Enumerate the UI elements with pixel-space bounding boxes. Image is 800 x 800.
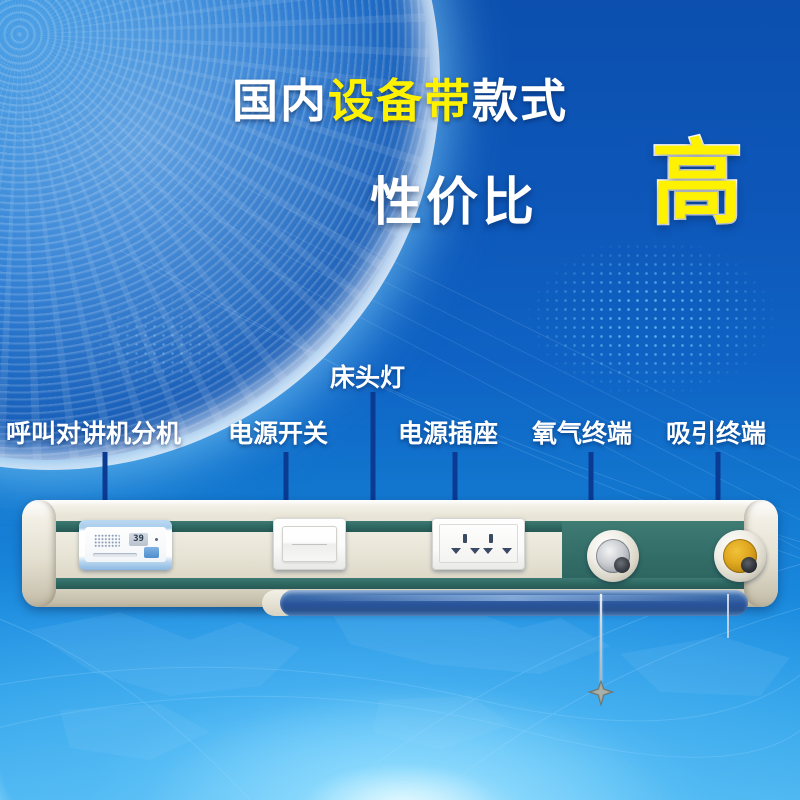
oxygen-ring — [596, 539, 630, 573]
speaker-grille-icon — [94, 534, 120, 548]
rocker-seam — [292, 544, 327, 545]
pull-cord-weight-icon[interactable] — [586, 678, 616, 708]
power-socket-unit[interactable] — [432, 518, 525, 570]
panel-body: 39 — [22, 500, 778, 607]
callout-label-oxygen-terminal: 氧气终端 — [532, 414, 632, 450]
socket-faceplate — [439, 524, 518, 563]
suction-port-hole — [741, 557, 757, 573]
lamp-pull-cord[interactable] — [600, 594, 602, 682]
status-led-icon — [155, 538, 158, 541]
callout-label-bedside-lamp: 床头灯 — [330, 358, 405, 394]
suction-pull-cord[interactable] — [727, 594, 729, 638]
nurse-call-faceplate: 39 — [85, 527, 166, 562]
bedside-lamp-diffuser — [280, 590, 748, 616]
power-switch-unit[interactable] — [273, 518, 346, 570]
callout-label-power-socket: 电源插座 — [398, 414, 498, 450]
socket-slot-b2 — [502, 548, 512, 554]
suction-ring — [723, 539, 757, 573]
nurse-call-slot — [93, 553, 137, 557]
banner-canvas: 国内设备带款式 性价比 高 床头灯 呼叫对讲机分机 电源开关 电 — [0, 0, 800, 800]
nurse-call-button[interactable] — [144, 547, 159, 558]
rocker-switch[interactable] — [282, 526, 337, 562]
socket-pin-b1 — [489, 534, 493, 543]
oxygen-terminal-outlet[interactable] — [587, 530, 639, 582]
callout-label-nurse-call: 呼叫对讲机分机 — [6, 414, 181, 450]
socket-pin-a1 — [463, 534, 467, 543]
socket-slot-b1 — [483, 548, 493, 554]
panel-end-cap-left — [22, 500, 56, 607]
panel-stripe-bottom — [56, 578, 744, 589]
callout-leader-lines — [0, 0, 800, 800]
bed-head-unit-panel: 39 — [22, 500, 778, 625]
light-tube-highlight — [302, 595, 722, 601]
callout-label-suction-terminal: 吸引终端 — [666, 414, 766, 450]
socket-slot-a1 — [451, 548, 461, 554]
socket-slot-a2 — [470, 548, 480, 554]
nurse-call-intercom-unit[interactable]: 39 — [79, 520, 172, 570]
oxygen-port-hole — [614, 557, 630, 573]
suction-terminal-outlet[interactable] — [714, 530, 766, 582]
nurse-call-display: 39 — [129, 533, 148, 546]
callout-label-power-switch: 电源开关 — [228, 414, 328, 450]
